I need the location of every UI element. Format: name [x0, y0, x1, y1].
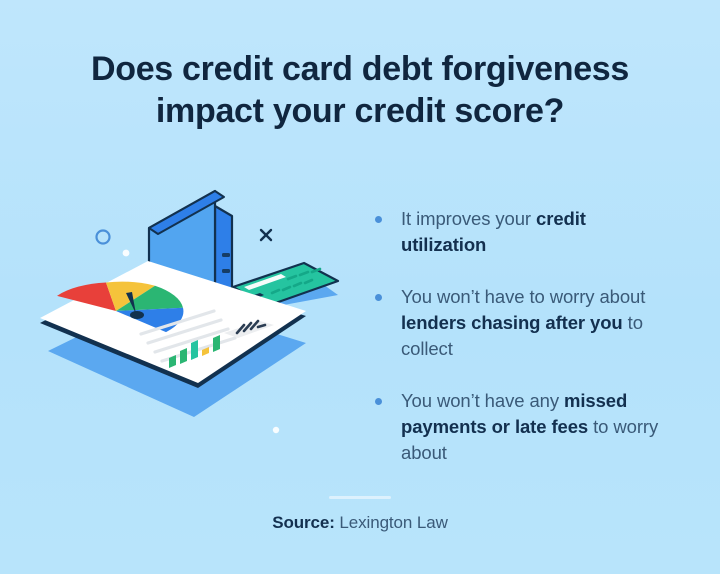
bullet-text-bold: lenders chasing after you [401, 312, 623, 333]
title-line-2: impact your credit score? [34, 90, 686, 132]
bullet-text: You won’t have to worry about lenders ch… [401, 286, 645, 359]
wallet-notch-2 [222, 269, 230, 273]
bullet-text: It improves your credit utilization [401, 208, 586, 255]
bullet-dot-icon [375, 398, 382, 405]
title-line-1: Does credit card debt forgiveness [34, 48, 686, 90]
decor-x-icon [261, 230, 271, 240]
bullet-dot-icon [375, 294, 382, 301]
bullet-text-pre: You won’t have to worry about [401, 286, 645, 307]
bullet-text-pre: It improves your [401, 208, 536, 229]
bullet-text-pre: You won’t have any [401, 390, 564, 411]
source-attribution: Source: Lexington Law [0, 513, 720, 533]
list-item: It improves your credit utilization [373, 206, 673, 258]
source-divider [329, 496, 391, 499]
bullet-text: You won’t have any missed payments or la… [401, 390, 658, 463]
list-item: You won’t have any missed payments or la… [373, 388, 673, 466]
credit-report-illustration [38, 175, 358, 450]
source-value: Lexington Law [335, 513, 448, 532]
page-title: Does credit card debt forgiveness impact… [0, 48, 720, 132]
decor-dot-icon [123, 250, 130, 257]
infographic-canvas: Does credit card debt forgiveness impact… [0, 0, 720, 574]
decor-ring-icon [97, 231, 110, 244]
source-label: Source: [272, 513, 335, 532]
benefit-list: It improves your credit utilization You … [373, 206, 673, 466]
list-item: You won’t have to worry about lenders ch… [373, 284, 673, 362]
bullet-dot-icon [375, 216, 382, 223]
bar-3 [191, 340, 198, 360]
wallet-notch-1 [222, 253, 230, 257]
decor-dot-small-icon [273, 427, 279, 433]
